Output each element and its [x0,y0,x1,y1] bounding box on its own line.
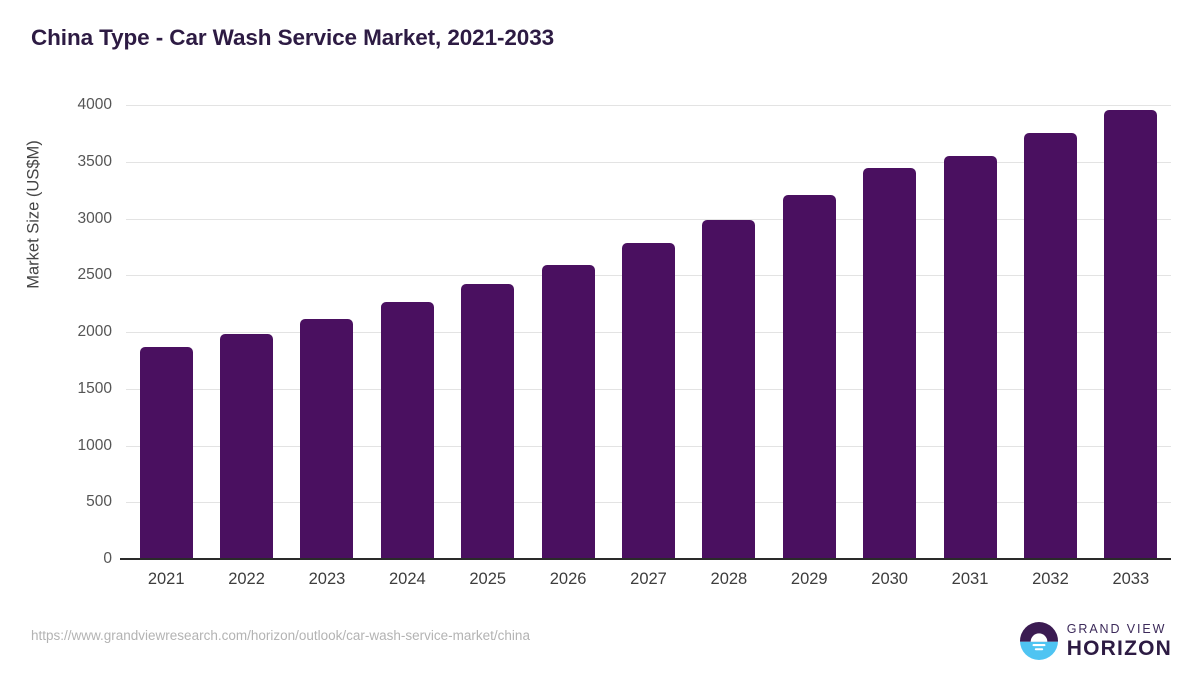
bar[interactable] [944,156,997,559]
x-axis-tick-label: 2027 [630,570,667,589]
brand-text: GRAND VIEW HORIZON [1067,623,1172,660]
bar[interactable] [542,265,595,559]
x-axis-tick-label: 2021 [148,570,185,589]
y-axis-tick-label: 3000 [0,210,112,228]
y-axis-tick-label: 0 [0,550,112,568]
gridline [126,219,1171,220]
y-axis-tick-label: 500 [0,493,112,511]
x-axis-tick-label: 2024 [389,570,426,589]
page-title: China Type - Car Wash Service Market, 20… [31,25,554,51]
gridline [126,105,1171,106]
bar[interactable] [300,319,353,559]
x-axis-tick-label: 2028 [711,570,748,589]
x-axis-tick-label: 2025 [469,570,506,589]
source-url-caption: https://www.grandviewresearch.com/horizo… [31,628,530,643]
horizon-sun-circle-icon [1020,622,1058,660]
y-axis-tick-label: 1000 [0,437,112,455]
chart-figure: China Type - Car Wash Service Market, 20… [0,0,1200,675]
x-axis-tick-label: 2023 [309,570,346,589]
bar[interactable] [220,334,273,559]
x-axis-tick-label: 2031 [952,570,989,589]
x-axis-tick-label: 2029 [791,570,828,589]
x-axis-line [120,558,1171,560]
bar[interactable] [140,347,193,559]
y-axis-tick-label: 3500 [0,153,112,171]
brand-logo: GRAND VIEW HORIZON [1020,620,1172,662]
y-axis-tick-label: 2500 [0,266,112,284]
plot-area [126,105,1171,559]
bar[interactable] [381,302,434,559]
bar[interactable] [863,168,916,559]
x-axis-tick-label: 2033 [1112,570,1149,589]
x-axis-tick-label: 2030 [871,570,908,589]
brand-name-secondary: HORIZON [1067,638,1172,659]
bar[interactable] [1104,110,1157,559]
x-axis-tick-label: 2026 [550,570,587,589]
bar[interactable] [783,195,836,559]
y-axis-tick-label: 1500 [0,380,112,398]
bar[interactable] [702,220,755,559]
bar[interactable] [1024,133,1077,559]
brand-name-primary: GRAND VIEW [1067,623,1172,636]
gridline [126,162,1171,163]
bar[interactable] [461,284,514,559]
bar[interactable] [622,243,675,559]
y-axis-tick-label: 4000 [0,96,112,114]
x-axis-tick-label: 2022 [228,570,265,589]
y-axis-tick-label: 2000 [0,323,112,341]
x-axis-tick-label: 2032 [1032,570,1069,589]
